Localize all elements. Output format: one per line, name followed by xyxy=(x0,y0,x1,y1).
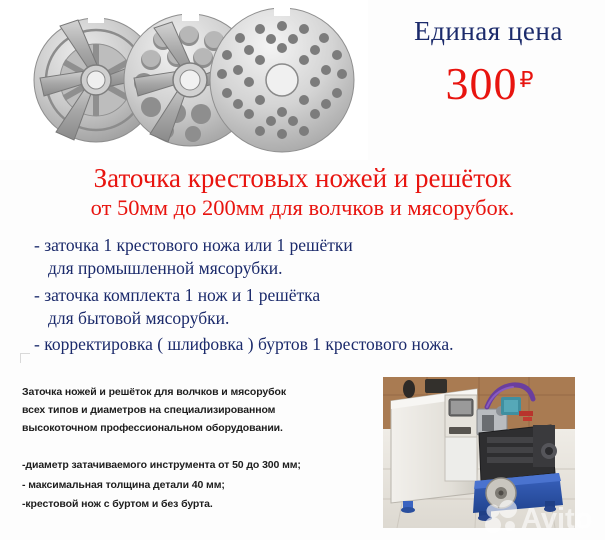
list-item: - заточка комплекта 1 нож и 1 решётка дл… xyxy=(34,284,579,331)
machine-photo xyxy=(383,377,575,528)
description-paragraph: Заточка ножей и решёток для волчков и мя… xyxy=(22,383,372,437)
plates-photo xyxy=(0,0,368,160)
headline-line-2: от 50мм до 200мм для волчков и мясорубок… xyxy=(0,195,605,221)
specs-list: -диаметр затачиваемого инструмента от 50… xyxy=(22,456,372,514)
currency-symbol: ₽ xyxy=(520,67,534,92)
price-amount: 300 xyxy=(446,58,518,109)
description-block: Заточка ножей и решёток для волчков и мя… xyxy=(22,383,372,514)
price-caption: Единая цена xyxy=(372,18,605,45)
description-line: всех типов и диаметров на специализирова… xyxy=(22,401,372,419)
description-line: высокоточном профессиональном оборудован… xyxy=(22,419,372,437)
services-list: - заточка 1 крестового ножа или 1 решётк… xyxy=(34,234,579,359)
headline: Заточка крестовых ножей и решёток от 50м… xyxy=(0,163,605,221)
service-main-text: - заточка 1 крестового ножа или 1 решётк… xyxy=(34,235,353,255)
service-sub-text: для промышленной мясорубки. xyxy=(34,257,579,280)
description-line: Заточка ножей и решёток для волчков и мя… xyxy=(22,383,372,401)
spec-item: -диаметр затачиваемого инструмента от 50… xyxy=(22,456,372,475)
list-item: - корректировка ( шлифовка ) буртов 1 кр… xyxy=(34,333,579,356)
advertisement-card: Единая цена 300₽ Заточка крестовых ножей… xyxy=(0,0,605,540)
service-main-text: - заточка комплекта 1 нож и 1 решётка xyxy=(34,285,320,305)
price-amount-row: 300₽ xyxy=(372,61,605,107)
spec-item: - максимальная толщина детали 40 мм; xyxy=(22,476,372,495)
spec-item: -крестовой нож с буртом и без бурта. xyxy=(22,495,372,514)
corner-artifact xyxy=(20,353,30,363)
service-main-text: - корректировка ( шлифовка ) буртов 1 кр… xyxy=(34,334,453,354)
headline-line-1: Заточка крестовых ножей и решёток xyxy=(0,163,605,193)
list-item: - заточка 1 крестового ножа или 1 решётк… xyxy=(34,234,579,281)
price-block: Единая цена 300₽ xyxy=(372,18,605,107)
service-sub-text: для бытовой мясорубки. xyxy=(34,307,579,330)
